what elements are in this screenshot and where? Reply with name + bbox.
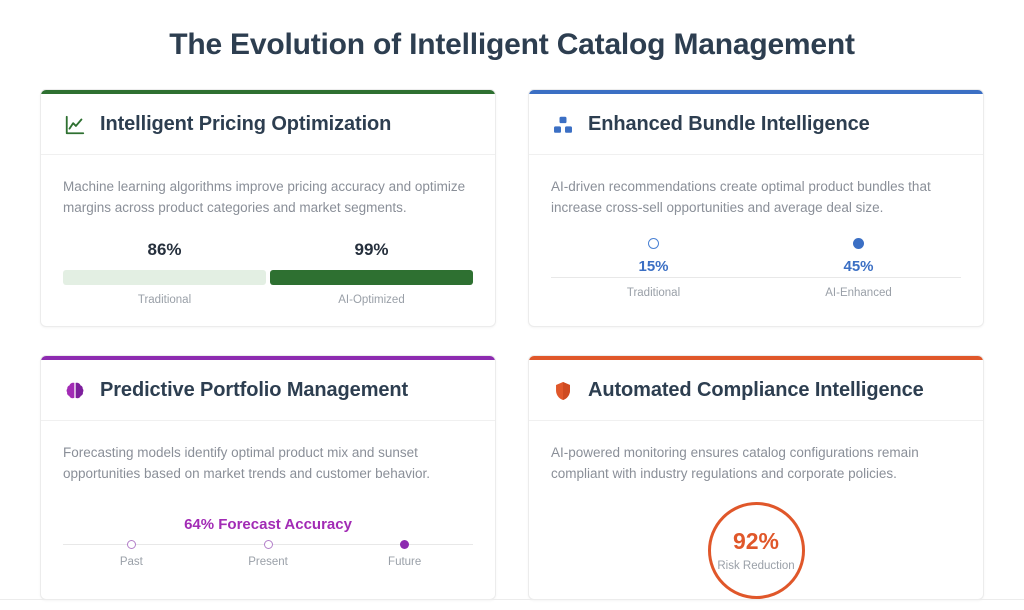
timeline-dot-hollow-icon [127,540,136,549]
bar-label: Traditional [138,294,191,306]
timeline-label: Present [200,556,337,568]
bar-label: AI-Optimized [338,294,404,306]
gauge-ring: 92% Risk Reduction [708,502,805,599]
card-title: Enhanced Bundle Intelligence [588,112,870,137]
card-body: Forecasting models identify optimal prod… [41,421,495,599]
shield-icon [551,379,575,403]
page-bottom-divider [0,599,1024,600]
card-description: AI-powered monitoring ensures catalog co… [551,443,961,484]
card-predictive-portfolio-management[interactable]: Predictive Portfolio Management Forecast… [40,355,496,600]
timeline-label: Past [63,556,200,568]
card-header: Enhanced Bundle Intelligence [529,94,983,155]
card-description: AI-driven recommendations create optimal… [551,177,961,218]
card-title: Intelligent Pricing Optimization [100,112,391,137]
dot-label: Traditional [627,287,680,299]
dot-baseline [551,277,756,278]
dot-label: AI-Enhanced [825,287,892,299]
bar-track [270,270,473,285]
card-automated-compliance-intelligence[interactable]: Automated Compliance Intelligence AI-pow… [528,355,984,600]
bar-value: 86% [147,240,181,260]
card-description: Machine learning algorithms improve pric… [63,177,473,218]
ring-gauge-chart: 92% Risk Reduction [551,502,961,599]
timeline-dot-hollow-icon [264,540,273,549]
card-body: Machine learning algorithms improve pric… [41,155,495,326]
gauge-label: Risk Reduction [717,560,794,572]
dot-marker-filled-icon [853,238,864,249]
timeline-label: Future [336,556,473,568]
timeline-axis [63,539,473,551]
brain-icon [63,379,87,403]
cubes-icon [551,113,575,137]
card-body: AI-powered monitoring ensures catalog co… [529,421,983,599]
page-title: The Evolution of Intelligent Catalog Man… [0,0,1024,63]
card-body: AI-driven recommendations create optimal… [529,155,983,326]
bar-track [63,270,266,285]
dot-comparison-chart: 15% Traditional 45% AI-Enhanced [551,238,961,299]
timeline-point-past [63,539,200,551]
gauge-value: 92% [733,530,779,553]
dot-baseline [756,277,961,278]
dot-item-ai-enhanced: 45% AI-Enhanced [756,238,961,299]
card-header: Intelligent Pricing Optimization [41,94,495,155]
feature-card-grid: Intelligent Pricing Optimization Machine… [40,89,984,600]
timeline-headline: 64% Forecast Accuracy [63,516,473,533]
card-header: Predictive Portfolio Management [41,360,495,421]
line-chart-icon [63,113,87,137]
bar-item-ai-optimized: 99% AI-Optimized [270,240,473,306]
card-title: Predictive Portfolio Management [100,378,408,403]
card-enhanced-bundle-intelligence[interactable]: Enhanced Bundle Intelligence AI-driven r… [528,89,984,327]
dot-value: 45% [843,258,873,275]
timeline-points [63,539,473,551]
card-header: Automated Compliance Intelligence [529,360,983,421]
timeline-labels: Past Present Future [63,556,473,568]
page-root: The Evolution of Intelligent Catalog Man… [0,0,1024,610]
dot-value: 15% [638,258,668,275]
dot-marker-hollow-icon [648,238,659,249]
timeline-point-present [200,539,337,551]
card-description: Forecasting models identify optimal prod… [63,443,473,484]
bar-item-traditional: 86% Traditional [63,240,266,306]
card-title: Automated Compliance Intelligence [588,378,924,403]
dot-item-traditional: 15% Traditional [551,238,756,299]
timeline-dot-filled-icon [400,540,409,549]
timeline-chart: 64% Forecast Accuracy Past Present Futur… [63,516,473,568]
card-intelligent-pricing-optimization[interactable]: Intelligent Pricing Optimization Machine… [40,89,496,327]
timeline-point-future [336,539,473,551]
bar-value: 99% [354,240,388,260]
bar-comparison-chart: 86% Traditional 99% AI-Optimized [63,240,473,306]
